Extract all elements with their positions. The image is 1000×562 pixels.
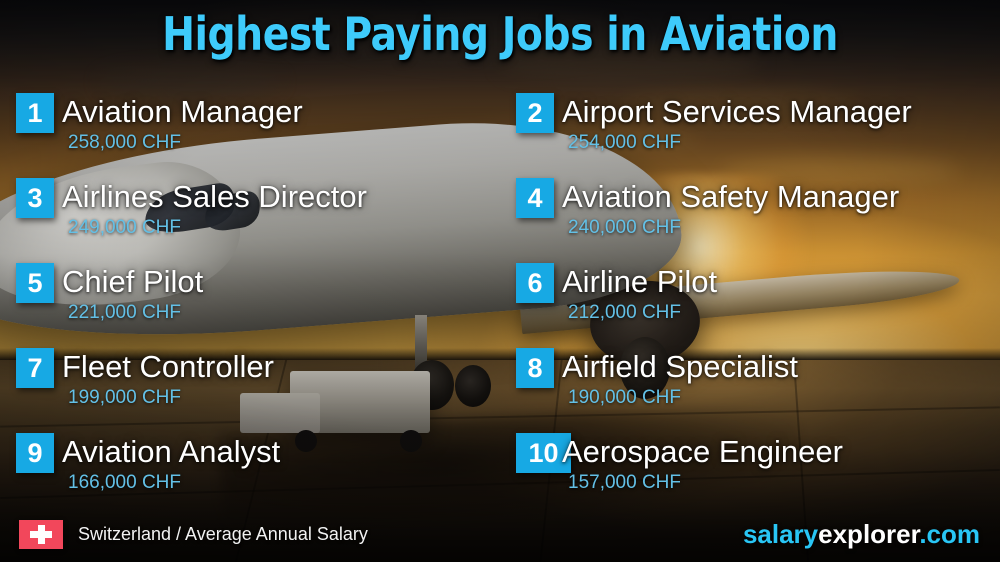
rank-badge: 4 [516,178,554,218]
job-salary: 166,000 CHF [68,469,181,497]
job-list-item[interactable]: 7 Fleet Controller 199,000 CHF [0,343,500,428]
rank-badge: 5 [16,263,54,303]
job-salary: 199,000 CHF [68,384,181,412]
poster-footer: Switzerland / Average Annual Salary sala… [0,506,1000,562]
rank-badge: 1 [16,93,54,133]
jobs-grid: 1 Aviation Manager 258,000 CHF 3 Airline… [0,88,1000,494]
rank-badge: 8 [516,348,554,388]
job-list-item[interactable]: 1 Aviation Manager 258,000 CHF [0,88,500,173]
rank-badge: 9 [16,433,54,473]
jobs-column-left: 1 Aviation Manager 258,000 CHF 3 Airline… [0,88,500,494]
job-list-item[interactable]: 2 Airport Services Manager 254,000 CHF [500,88,1000,173]
job-list-item[interactable]: 9 Aviation Analyst 166,000 CHF [0,428,500,513]
job-list-item[interactable]: 5 Chief Pilot 221,000 CHF [0,258,500,343]
job-salary: 190,000 CHF [568,384,681,412]
rank-badge: 3 [16,178,54,218]
footer-caption: Switzerland / Average Annual Salary [78,520,368,548]
brand-logo[interactable]: salaryexplorer.com [743,517,980,551]
job-list-item[interactable]: 4 Aviation Safety Manager 240,000 CHF [500,173,1000,258]
job-salary: 221,000 CHF [68,299,181,327]
job-salary: 212,000 CHF [568,299,681,327]
job-list-item[interactable]: 8 Airfield Specialist 190,000 CHF [500,343,1000,428]
job-salary: 258,000 CHF [68,129,181,157]
flag-cross-horizontal [30,531,52,538]
brand-part-domain: .com [919,519,980,549]
switzerland-flag-icon [19,520,63,549]
rank-badge: 7 [16,348,54,388]
poster-content: Highest Paying Jobs in Aviation 1 Aviati… [0,0,1000,562]
job-list-item[interactable]: 3 Airlines Sales Director 249,000 CHF [0,173,500,258]
job-salary: 254,000 CHF [568,129,681,157]
job-salary: 157,000 CHF [568,469,681,497]
salary-infographic-poster: Highest Paying Jobs in Aviation 1 Aviati… [0,0,1000,562]
job-list-item[interactable]: 10 Aerospace Engineer 157,000 CHF [500,428,1000,513]
job-salary: 240,000 CHF [568,214,681,242]
brand-part-explorer: explorer [818,519,919,549]
job-list-item[interactable]: 6 Airline Pilot 212,000 CHF [500,258,1000,343]
job-salary: 249,000 CHF [68,214,181,242]
rank-badge: 6 [516,263,554,303]
rank-badge: 2 [516,93,554,133]
jobs-column-right: 2 Airport Services Manager 254,000 CHF 4… [500,88,1000,494]
page-title: Highest Paying Jobs in Aviation [25,6,975,62]
brand-part-salary: salary [743,519,818,549]
